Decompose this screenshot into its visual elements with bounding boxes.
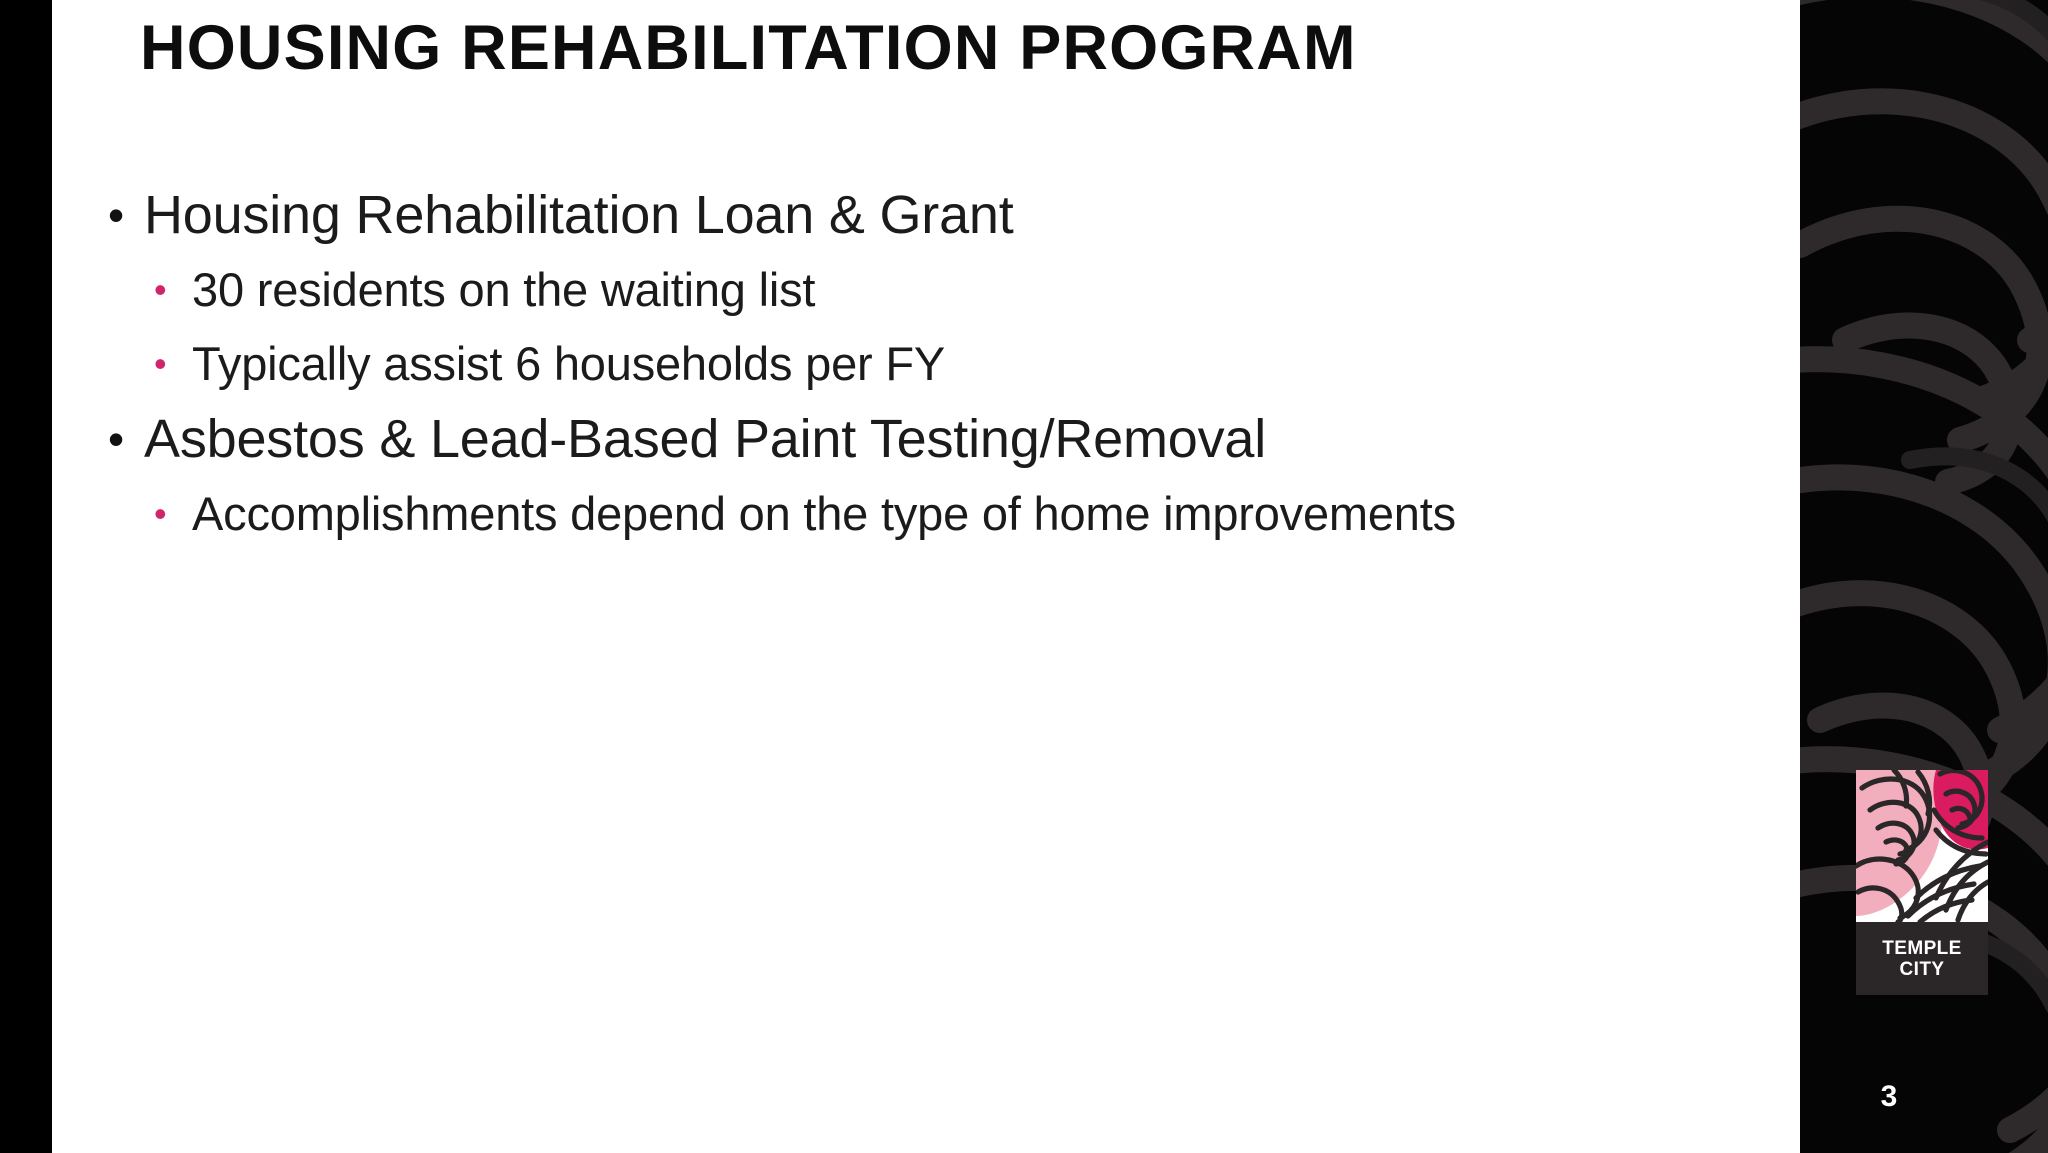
bullet-item-level2: • 30 residents on the waiting list — [146, 254, 1792, 326]
bullet-text: Asbestos & Lead-Based Paint Testing/Remo… — [144, 402, 1266, 476]
bullet-marker-icon: • — [102, 178, 144, 252]
logo-wordmark-line2: CITY — [1900, 959, 1945, 980]
logo-wordmark-line1: TEMPLE — [1882, 938, 1961, 959]
bullet-item-level1: • Asbestos & Lead-Based Paint Testing/Re… — [102, 402, 1792, 476]
page-number: 3 — [1869, 1080, 1909, 1114]
sub-bullet-text: Typically assist 6 households per FY — [192, 328, 945, 400]
sub-bullet-text: 30 residents on the waiting list — [192, 254, 815, 326]
sub-bullet-text: Accomplishments depend on the type of ho… — [192, 478, 1456, 550]
bullet-marker-icon: • — [102, 402, 144, 476]
bullet-item-level1: • Housing Rehabilitation Loan & Grant — [102, 178, 1792, 252]
logo-wordmark: TEMPLE CITY — [1856, 922, 1988, 995]
bullet-item-level2: • Typically assist 6 households per FY — [146, 328, 1792, 400]
slide-title: HOUSING REHABILITATION PROGRAM — [140, 12, 1760, 84]
sub-bullet-marker-icon: • — [146, 254, 192, 326]
sub-bullet-marker-icon: • — [146, 328, 192, 400]
bullet-item-level2: • Accomplishments depend on the type of … — [146, 478, 1792, 550]
logo-rose-artwork — [1856, 770, 1988, 922]
sub-bullet-marker-icon: • — [146, 478, 192, 550]
temple-city-logo: TEMPLE CITY — [1856, 770, 1988, 995]
bullet-list: • Housing Rehabilitation Loan & Grant • … — [102, 178, 1792, 552]
left-gutter-bar — [0, 0, 52, 1153]
slide-canvas: HOUSING REHABILITATION PROGRAM • Housing… — [0, 0, 2048, 1153]
slide-content-area: HOUSING REHABILITATION PROGRAM • Housing… — [52, 0, 1800, 1153]
bullet-text: Housing Rehabilitation Loan & Grant — [144, 178, 1014, 252]
